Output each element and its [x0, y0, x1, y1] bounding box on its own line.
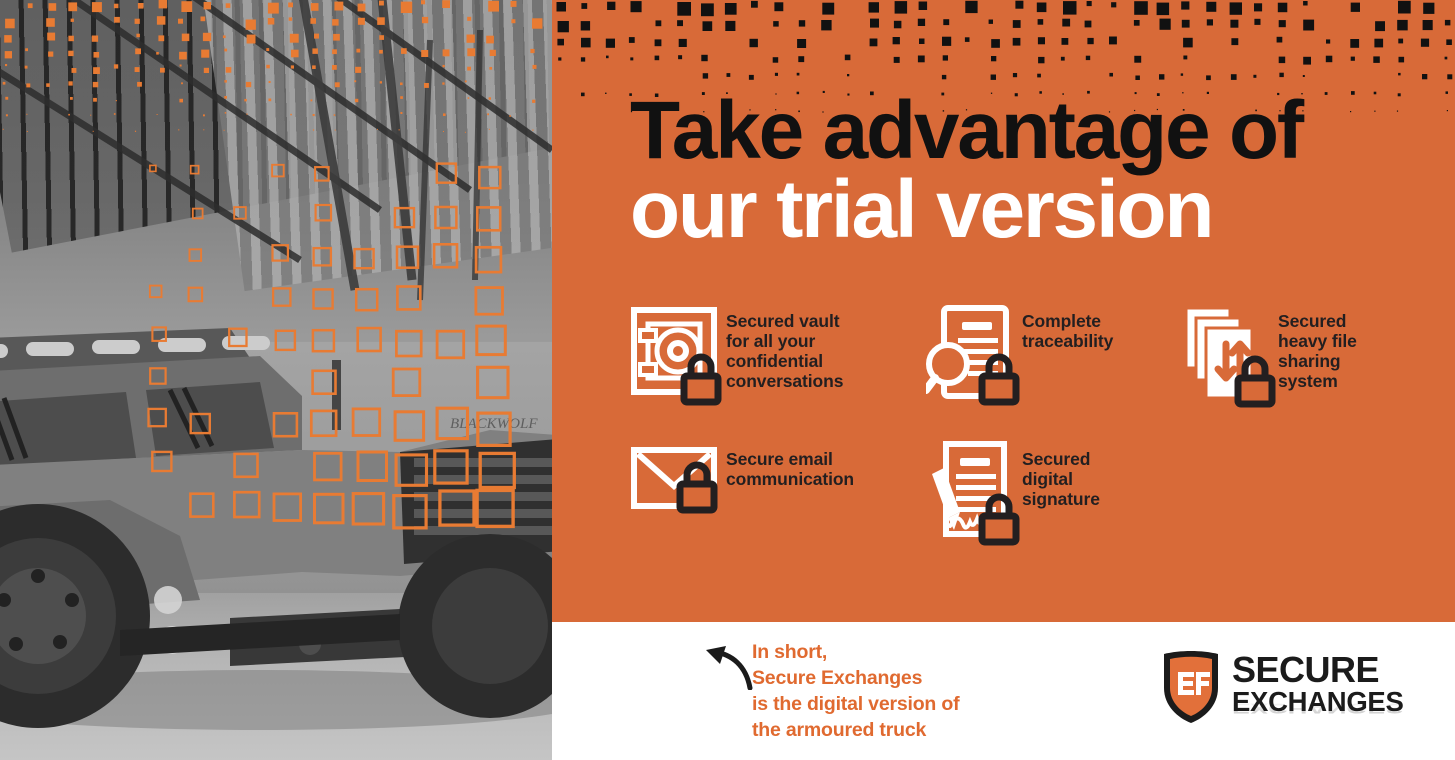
- secure-exchanges-logo[interactable]: SECURE EXCHANGES EXCHANGES: [1160, 642, 1378, 736]
- feature-label: Secure email communication: [726, 438, 854, 490]
- logo-wordmark: SECURE EXCHANGES EXCHANGES: [1232, 652, 1382, 724]
- file-sharing-icon: [1182, 300, 1278, 410]
- feature-item-secure-email: Secure email communication: [630, 438, 926, 548]
- signature-icon: [926, 438, 1022, 548]
- vault-icon: [630, 300, 726, 410]
- secure-exchanges-shield-icon: [1160, 648, 1222, 726]
- headline-line-1: Take advantage of: [630, 92, 1440, 171]
- email-icon: [630, 438, 726, 528]
- feature-label: Secured vault for all your confidential …: [726, 300, 843, 392]
- logo-word-reflection: EXCHANGES: [1232, 701, 1404, 716]
- feature-item-complete-traceability: Complete traceability: [926, 300, 1182, 410]
- headline-line-2: our trial version: [630, 171, 1440, 250]
- padlock-icon: [680, 465, 714, 510]
- truck-silhouette: BLACKWOLF: [0, 300, 552, 730]
- traceability-icon: [926, 300, 1022, 410]
- footer-tagline: In short, Secure Exchanges is the digita…: [752, 640, 959, 744]
- page-title: Take advantage of our trial version: [630, 92, 1440, 249]
- feature-label: Secured digital signature: [1022, 438, 1100, 510]
- logo-word-secure: SECURE: [1232, 652, 1379, 688]
- padlock-icon: [982, 357, 1016, 402]
- feature-row-1: Secured vault for all your confidential …: [630, 300, 1442, 410]
- curved-arrow-up-left-icon: [702, 644, 754, 690]
- promotional-poster: BLACKWOLF: [0, 0, 1455, 760]
- photo-image: BLACKWOLF: [0, 0, 552, 760]
- orange-content-panel: Take advantage of our trial version: [552, 0, 1455, 622]
- feature-item-secured-vault: Secured vault for all your confidential …: [630, 300, 926, 410]
- padlock-icon: [1238, 359, 1272, 404]
- feature-item-file-sharing: Secured heavy file sharing system: [1182, 300, 1442, 410]
- feature-label: Secured heavy file sharing system: [1278, 300, 1357, 392]
- footer-bar: In short, Secure Exchanges is the digita…: [552, 622, 1455, 760]
- svg-text:BLACKWOLF: BLACKWOLF: [450, 416, 538, 432]
- feature-row-2: Secure email communication: [630, 438, 1442, 548]
- feature-item-digital-signature: Secured digital signature: [926, 438, 1182, 548]
- feature-label: Complete traceability: [1022, 300, 1113, 352]
- armoured-truck-photo: BLACKWOLF: [0, 0, 552, 760]
- feature-list: Secured vault for all your confidential …: [630, 300, 1442, 548]
- padlock-icon: [982, 497, 1016, 542]
